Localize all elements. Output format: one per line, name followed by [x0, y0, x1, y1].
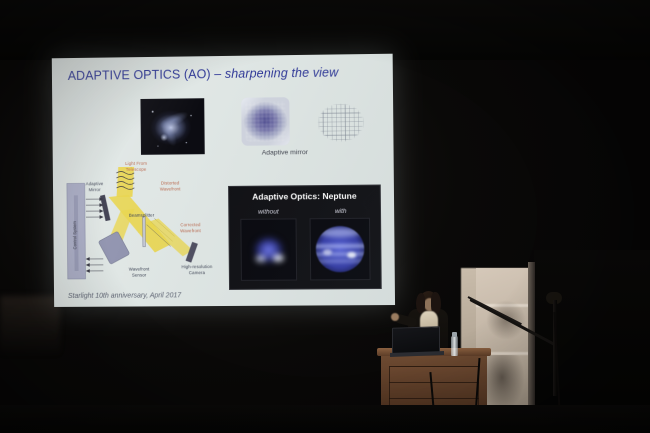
floor	[0, 405, 650, 433]
slide-title: ADAPTIVE OPTICS (AO) – sharpening the vi…	[68, 65, 388, 83]
neptune-without-label: without	[239, 208, 297, 216]
slide-footer: Starlight 10th anniversary, April 2017	[68, 292, 181, 300]
neptune-panel-title: Adaptive Optics: Neptune	[229, 191, 380, 202]
presenter-hair-left	[416, 293, 425, 313]
label-high-resolution-camera: High-resolution Camera	[171, 264, 223, 275]
label-beamsplitter: Beamsplitter	[121, 213, 163, 219]
neptune-sharp-disk	[316, 226, 365, 273]
slide-title-dash: –	[211, 67, 225, 81]
neptune-bright-spot-right	[273, 255, 284, 262]
neptune-image-with	[310, 218, 371, 281]
ceiling	[0, 0, 650, 60]
label-wavefront-sensor: Wavefront Sensor	[119, 266, 159, 277]
projected-slide: ADAPTIVE OPTICS (AO) – sharpening the vi…	[52, 54, 395, 307]
label-adaptive-mirror: Adaptive Mirror	[77, 181, 113, 192]
podium-groove-2	[389, 398, 479, 399]
auditorium-scene: ADAPTIVE OPTICS (AO) – sharpening the vi…	[0, 0, 650, 433]
actuator-grid-diagram	[309, 96, 372, 149]
water-bottle-cap	[452, 332, 457, 337]
neptune-with-label: with	[311, 208, 369, 216]
neptune-cloud-spot-left	[323, 249, 332, 255]
left-wall-glow	[0, 296, 60, 356]
neptune-panel: Adaptive Optics: Neptune without with	[228, 185, 382, 290]
label-distorted-wavefront: Distorted Wavefront	[150, 180, 190, 191]
neptune-blurred-disk	[249, 232, 289, 270]
presenter-hand	[391, 313, 399, 321]
adaptive-mirror-photo	[241, 97, 290, 146]
neptune-image-without	[240, 218, 297, 281]
galaxy-spiral-arms	[133, 89, 212, 164]
galaxy-photo	[140, 98, 204, 155]
neptune-cloud-band-3	[316, 259, 365, 263]
label-light-from-telescope: Light From Telescope	[116, 161, 156, 172]
neptune-cloud-spot-right	[347, 252, 356, 258]
slide-title-main: ADAPTIVE OPTICS (AO)	[68, 67, 211, 83]
neptune-polar-cap	[319, 228, 361, 237]
label-corrected-wavefront: Corrected Wavefront	[169, 222, 213, 233]
neptune-cloud-band-1	[316, 244, 365, 248]
neptune-bright-spot-left	[256, 256, 266, 262]
adaptive-optics-diagram: Control System Light From Telescope Dist…	[59, 166, 229, 291]
adaptive-mirror-caption: Adaptive mirror	[230, 149, 340, 157]
water-bottle	[451, 336, 458, 356]
slide-title-italic: sharpening the view	[225, 65, 339, 80]
svg-text:Control System: Control System	[72, 220, 77, 249]
podium-groove-1	[389, 382, 479, 383]
